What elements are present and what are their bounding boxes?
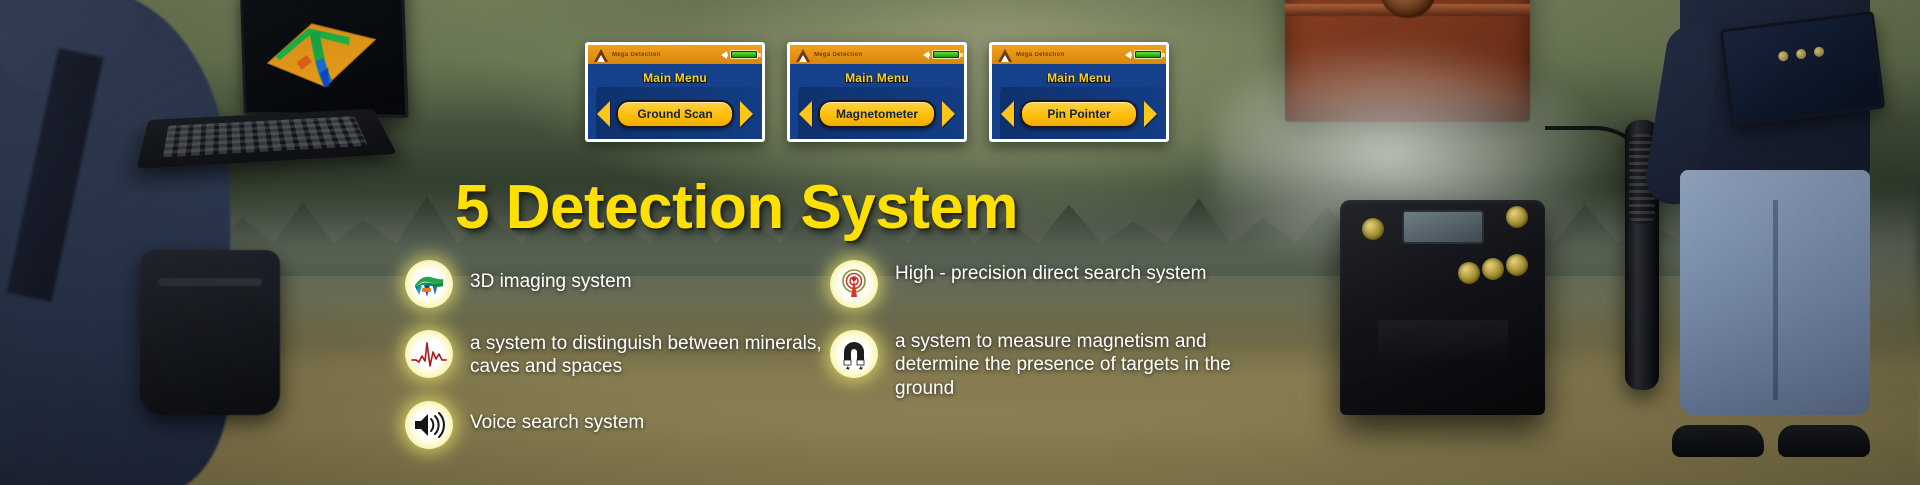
mode-selector: Pin Pointer <box>992 100 1166 128</box>
screen-status-bar: Mega Detection <box>992 45 1166 64</box>
speaker-icon <box>923 51 929 59</box>
battery-full-icon <box>1134 50 1162 59</box>
arrow-left-icon[interactable] <box>1001 101 1014 127</box>
screen-status-bar: Mega Detection <box>588 45 762 64</box>
device-knob-left <box>1362 218 1384 240</box>
3d-terrain-icon <box>405 260 453 308</box>
feature-label: 3D imaging system <box>470 260 632 293</box>
speaker-volume-icon <box>405 401 453 449</box>
operator-right-shoe-right <box>1778 425 1870 457</box>
mode-button[interactable]: Magnetometer <box>818 100 936 128</box>
arrow-right-icon[interactable] <box>740 101 753 127</box>
tablet-button-2 <box>1796 48 1807 59</box>
status-indicators <box>923 50 960 59</box>
mode-screen-pin-pointer[interactable]: Mega Detection Main Menu Pin Pointer <box>989 42 1169 142</box>
screen-title: Main Menu <box>992 71 1166 85</box>
equipment-bag <box>140 250 280 415</box>
metal-detector-device <box>1340 200 1545 415</box>
screen-brand-label: Mega Detection <box>612 52 661 58</box>
screen-brand-label: Mega Detection <box>814 52 863 58</box>
speaker-icon <box>721 51 727 59</box>
feature-label: a system to distinguish between minerals… <box>470 330 825 379</box>
antenna-signal-icon <box>830 260 878 308</box>
feature-item: Voice search system <box>405 401 825 449</box>
feature-label: a system to measure magnetism and determ… <box>895 330 1260 400</box>
screen-title: Main Menu <box>588 71 762 85</box>
laptop-keyboard <box>136 109 396 169</box>
feature-label: Voice search system <box>470 401 644 434</box>
operator-right-shoe-left <box>1672 425 1764 457</box>
handheld-tablet <box>1720 11 1886 127</box>
laptop-screen <box>240 0 409 118</box>
tablet-button-3 <box>1813 46 1824 57</box>
operator-right-jeans <box>1680 170 1870 415</box>
waveform-pulse-icon <box>405 330 453 378</box>
keyboard-keys <box>163 116 368 157</box>
feature-label: High - precision direct search system <box>895 260 1207 285</box>
bag-strap <box>7 48 104 302</box>
mode-screen-ground-scan[interactable]: Mega Detection Main Menu Ground Scan <box>585 42 765 142</box>
feature-list-left: 3D imaging system a system to distinguis… <box>405 260 825 471</box>
screen-title: Main Menu <box>790 71 964 85</box>
mode-selector: Magnetometer <box>790 100 964 128</box>
feature-item: a system to measure magnetism and determ… <box>830 330 1260 400</box>
feature-item: High - precision direct search system <box>830 260 1260 308</box>
feature-item: a system to distinguish between minerals… <box>405 330 825 379</box>
mountain-logo-icon <box>794 48 812 62</box>
feature-item: 3D imaging system <box>405 260 825 308</box>
mode-button[interactable]: Ground Scan <box>616 100 734 128</box>
arrow-right-icon[interactable] <box>942 101 955 127</box>
device-lcd-screen <box>1402 210 1484 244</box>
device-control-2 <box>1482 258 1504 280</box>
tablet-button-1 <box>1778 51 1789 62</box>
screen-status-bar: Mega Detection <box>790 45 964 64</box>
mountain-logo-icon <box>996 48 1014 62</box>
device-control-3 <box>1506 254 1528 276</box>
device-control-1 <box>1458 262 1480 284</box>
horseshoe-magnet-icon <box>830 330 878 378</box>
device-brand-plate <box>1378 320 1508 364</box>
status-indicators <box>721 50 758 59</box>
product-banner: Mega Detection Main Menu Ground Scan Meg… <box>0 0 1920 485</box>
arrow-right-icon[interactable] <box>1144 101 1157 127</box>
arrow-left-icon[interactable] <box>799 101 812 127</box>
device-knob-right <box>1506 206 1528 228</box>
status-indicators <box>1125 50 1162 59</box>
mode-screens: Mega Detection Main Menu Ground Scan Meg… <box>585 42 1169 142</box>
mode-selector: Ground Scan <box>588 100 762 128</box>
feature-list-right: High - precision direct search system a … <box>830 260 1260 422</box>
laptop-3d-scan-display <box>145 0 395 169</box>
arrow-left-icon[interactable] <box>597 101 610 127</box>
screen-brand-label: Mega Detection <box>1016 52 1065 58</box>
mode-screen-magnetometer[interactable]: Mega Detection Main Menu Magnetometer <box>787 42 967 142</box>
mode-button[interactable]: Pin Pointer <box>1020 100 1138 128</box>
speaker-icon <box>1125 51 1131 59</box>
page-title: 5 Detection System <box>455 172 1018 243</box>
battery-full-icon <box>730 50 758 59</box>
mountain-logo-icon <box>592 48 610 62</box>
3d-scan-visualization <box>255 0 390 104</box>
battery-full-icon <box>932 50 960 59</box>
